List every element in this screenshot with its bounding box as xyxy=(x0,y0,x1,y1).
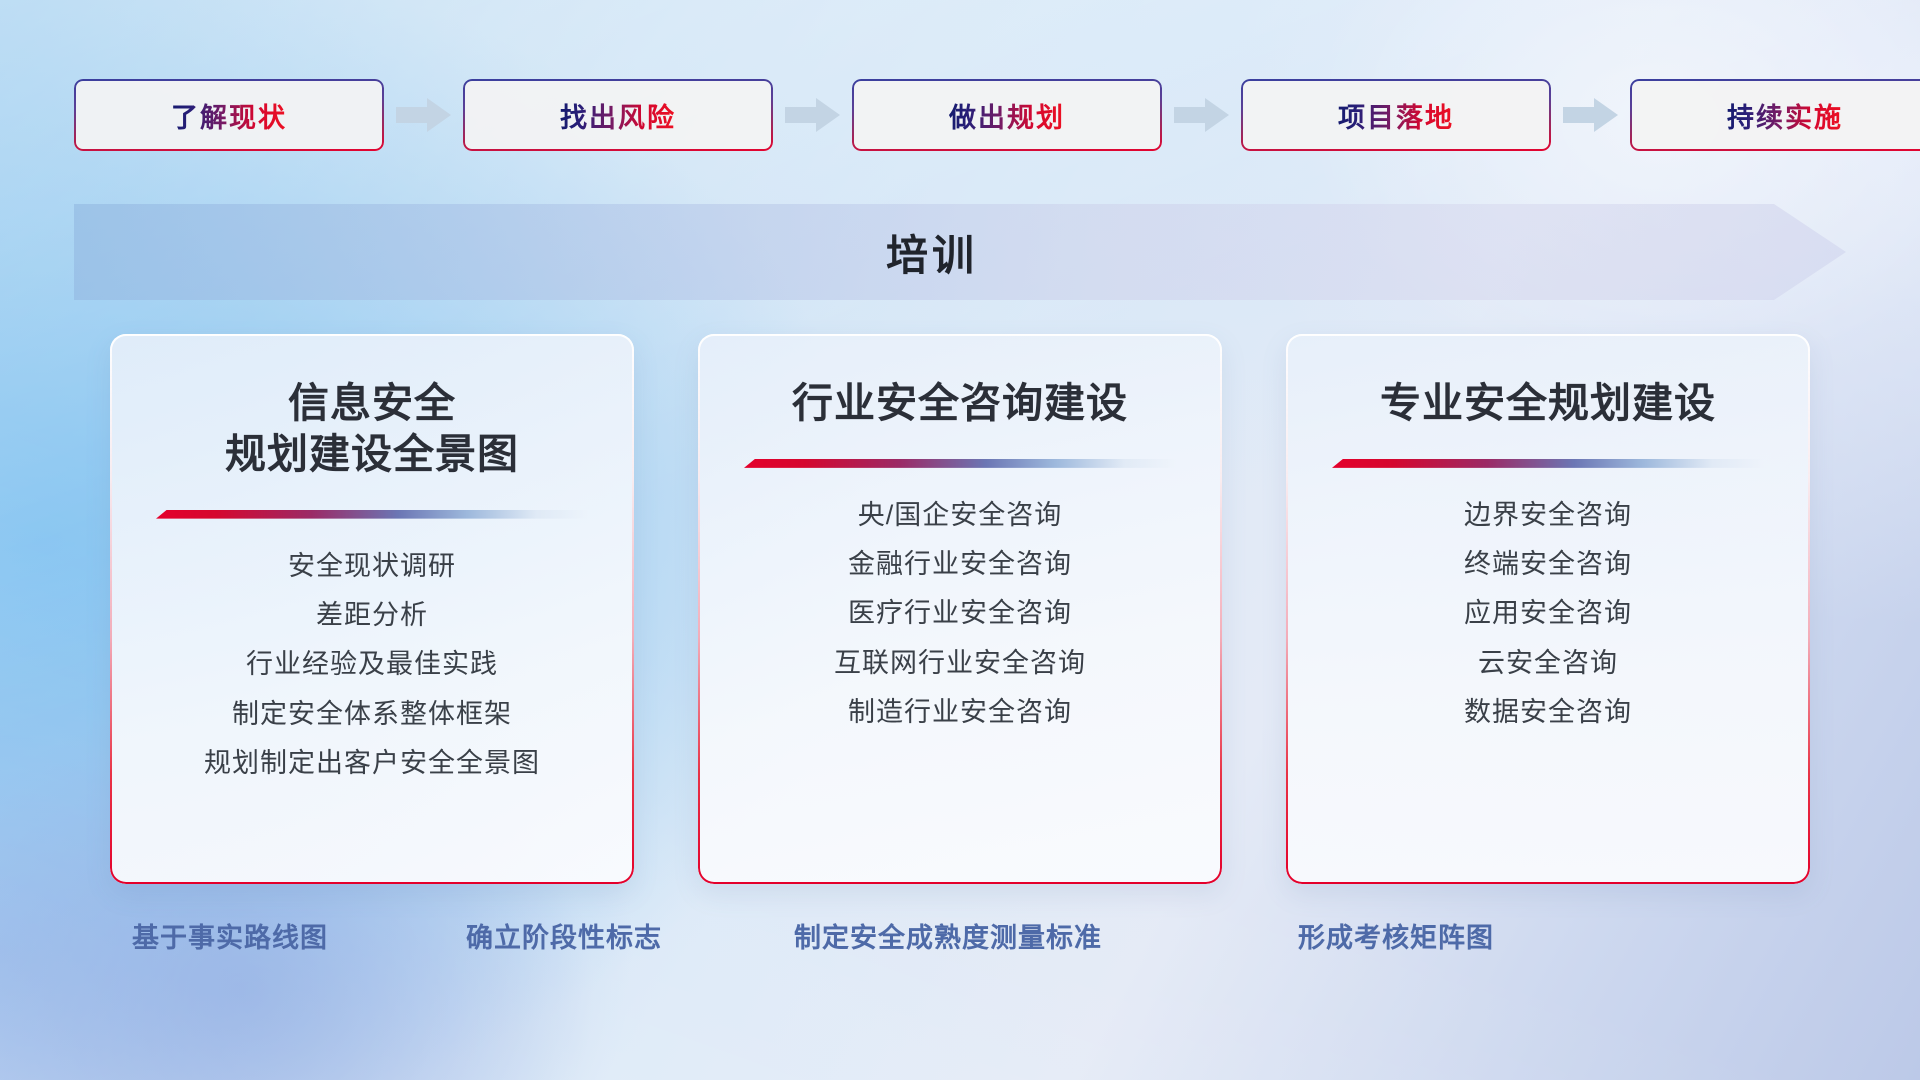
process-step-2[interactable]: 找出风险 xyxy=(463,79,773,151)
process-steps-row: 了解现状找出风险做出规划项目落地持续实施 xyxy=(74,78,1846,152)
card-list-item: 数据安全咨询 xyxy=(1464,693,1632,731)
card-list-item: 互联网行业安全咨询 xyxy=(834,644,1086,682)
card-divider xyxy=(744,459,1176,468)
arrow-right-icon xyxy=(1174,98,1229,132)
process-step-4[interactable]: 项目落地 xyxy=(1241,79,1551,151)
card-list-item: 云安全咨询 xyxy=(1478,644,1618,682)
card-list-item: 央/国企安全咨询 xyxy=(858,496,1063,534)
card-title: 信息安全 规划建设全景图 xyxy=(225,378,519,480)
footer-label-3: 制定安全成熟度测量标准 xyxy=(794,916,1102,955)
training-banner: 培训 xyxy=(74,204,1846,300)
process-step-1[interactable]: 了解现状 xyxy=(74,79,384,151)
card-list-item: 医疗行业安全咨询 xyxy=(848,594,1072,632)
arrow-right-icon xyxy=(785,98,840,132)
process-step-label: 找出风险 xyxy=(560,96,676,135)
card-list-item: 终端安全咨询 xyxy=(1464,545,1632,583)
service-cards-row: 信息安全 规划建设全景图安全现状调研差距分析行业经验及最佳实践制定安全体系整体框… xyxy=(110,334,1810,884)
process-step-label: 做出规划 xyxy=(949,96,1065,135)
card-title: 专业安全规划建设 xyxy=(1380,378,1716,429)
footer-label-2: 确立阶段性标志 xyxy=(466,916,662,955)
card-list-item: 安全现状调研 xyxy=(288,547,456,585)
banner-title: 培训 xyxy=(74,204,1846,300)
card-list-item: 差距分析 xyxy=(316,596,428,634)
process-step-label: 了解现状 xyxy=(171,96,287,135)
card-divider xyxy=(1332,459,1764,468)
card-list-item: 制定安全体系整体框架 xyxy=(232,695,512,733)
footer-label-4: 形成考核矩阵图 xyxy=(1298,916,1494,955)
card-list-item: 边界安全咨询 xyxy=(1464,496,1632,534)
card-list-item: 行业经验及最佳实践 xyxy=(246,645,498,683)
card-item-list: 央/国企安全咨询金融行业安全咨询医疗行业安全咨询互联网行业安全咨询制造行业安全咨… xyxy=(834,496,1086,732)
card-item-list: 边界安全咨询终端安全咨询应用安全咨询云安全咨询数据安全咨询 xyxy=(1464,496,1632,732)
service-card-2[interactable]: 行业安全咨询建设央/国企安全咨询金融行业安全咨询医疗行业安全咨询互联网行业安全咨… xyxy=(698,334,1222,884)
card-item-list: 安全现状调研差距分析行业经验及最佳实践制定安全体系整体框架规划制定出客户安全全景… xyxy=(204,547,540,783)
process-step-label: 持续实施 xyxy=(1727,96,1843,135)
card-title: 行业安全咨询建设 xyxy=(792,378,1128,429)
card-list-item: 应用安全咨询 xyxy=(1464,594,1632,632)
footer-label-1: 基于事实路线图 xyxy=(132,916,328,955)
arrow-right-icon xyxy=(1563,98,1618,132)
card-divider xyxy=(156,510,588,519)
arrow-right-icon xyxy=(396,98,451,132)
card-list-item: 规划制定出客户安全全景图 xyxy=(204,744,540,782)
card-list-item: 制造行业安全咨询 xyxy=(848,693,1072,731)
process-step-3[interactable]: 做出规划 xyxy=(852,79,1162,151)
footer-labels-row: 基于事实路线图确立阶段性标志制定安全成熟度测量标准形成考核矩阵图 xyxy=(74,916,1846,968)
process-step-label: 项目落地 xyxy=(1338,96,1454,135)
service-card-3[interactable]: 专业安全规划建设边界安全咨询终端安全咨询应用安全咨询云安全咨询数据安全咨询 xyxy=(1286,334,1810,884)
process-step-5[interactable]: 持续实施 xyxy=(1630,79,1920,151)
service-card-1[interactable]: 信息安全 规划建设全景图安全现状调研差距分析行业经验及最佳实践制定安全体系整体框… xyxy=(110,334,634,884)
card-list-item: 金融行业安全咨询 xyxy=(848,545,1072,583)
